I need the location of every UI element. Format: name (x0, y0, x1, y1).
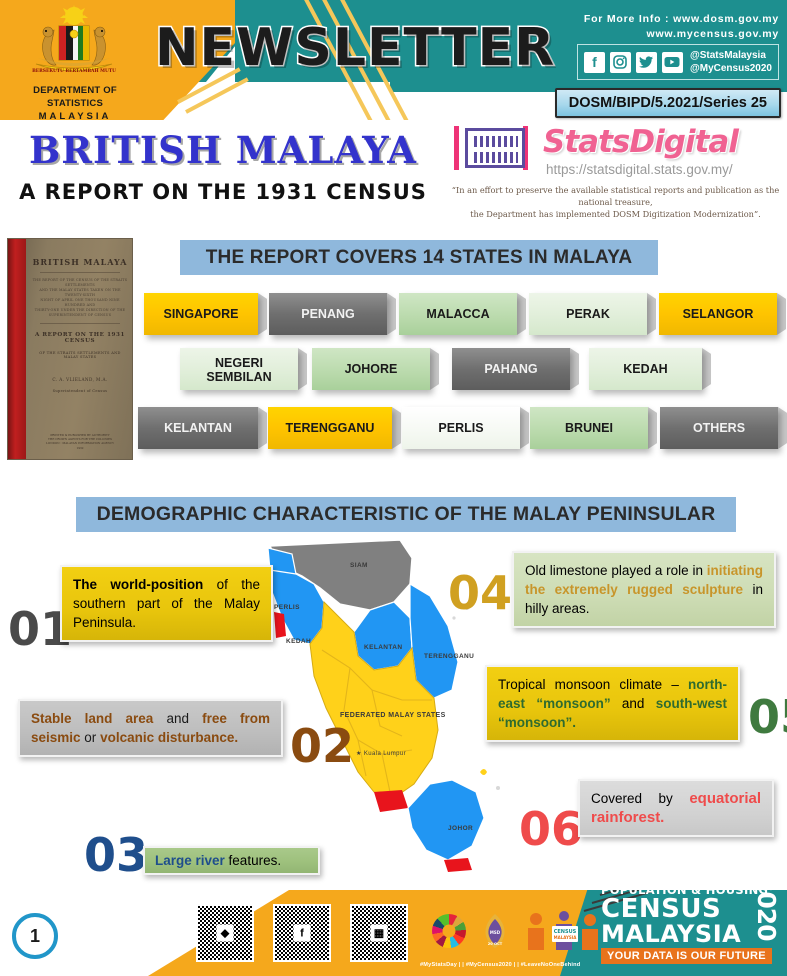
page-subtitle: A REPORT ON THE 1931 CENSUS (18, 180, 428, 204)
handle-statsmalaysia: @StatsMalaysia (690, 49, 772, 62)
statsdigital-logo-icon (454, 126, 528, 170)
state-chip-negeri-sembilan[interactable]: NEGERI SEMBILAN (180, 348, 298, 390)
quote-line-1: “In an effort to preserve the available … (448, 184, 783, 208)
book-spine (8, 239, 26, 459)
callout-02-part-3: or (84, 730, 100, 745)
callout-05-part-0: Tropical monsoon climate – (498, 677, 688, 692)
svg-text:MSD: MSD (490, 930, 501, 935)
book-line3: OF THE STRAITS SETTLEMENTS AND MALAY STA… (32, 351, 128, 359)
callout-05-part-2: and (622, 696, 656, 711)
census-2020-logo: POPULATION & HOUSING CENSUS MALAYSIA YOU… (601, 890, 781, 964)
svg-text:MALAYSIA: MALAYSIA (554, 935, 578, 940)
callout-number-04: 04 (448, 570, 512, 616)
department-name: DEPARTMENT OF STATISTICS MALAYSIA (10, 84, 140, 120)
state-chip-singapore[interactable]: SINGAPORE (144, 293, 258, 335)
state-chip-brunei[interactable]: BRUNEI (530, 407, 648, 449)
newsletter-page: BERSEKUTU BERTAMBAH MUTU DEPARTMENT OF S… (0, 0, 787, 976)
state-chip-malacca[interactable]: MALACCA (399, 293, 517, 335)
callout-02-part-1: and (166, 711, 202, 726)
map-label-kuala-lumpur: ★ Kuala Lumpur (356, 750, 406, 757)
newsletter-title: NEWSLETTER (155, 16, 555, 80)
state-chip-perak[interactable]: PERAK (529, 293, 647, 335)
callout-02-part-0: Stable land area (31, 711, 166, 726)
page-footer: 1 ◆ f ▦ MSD 20 OCT CENSUS MALAYSIA (0, 890, 787, 976)
qr-code-census[interactable]: ▦ (350, 904, 408, 962)
sdg-wheel-icon (432, 914, 466, 948)
dept-line-2: MALAYSIA (10, 110, 140, 120)
callout-01-part-0: The world-position (73, 577, 217, 592)
contact-info: For More Info : www.dosm.gov.my www.myce… (584, 12, 779, 42)
map-region-singapore (444, 858, 472, 872)
book-cover-image: BRITISH MALAYA THE REPORT OF THE CENSUS … (7, 238, 133, 460)
info-url-2: www.mycensus.gov.my (584, 27, 779, 42)
facebook-icon[interactable]: f (584, 52, 605, 73)
state-chip-label-line1: NEGERI (215, 356, 263, 370)
callout-02-part-4: volcanic disturbance. (100, 730, 238, 745)
callout-number-02: 02 (290, 723, 354, 769)
info-url-1: For More Info : www.dosm.gov.my (584, 12, 779, 27)
state-chip-label-line2: SEMBILAN (206, 370, 271, 384)
demographic-banner: DEMOGRAPHIC CHARACTERISTIC OF THE MALAY … (76, 497, 736, 532)
state-chip-others[interactable]: OTHERS (660, 407, 778, 449)
state-chip-kedah[interactable]: KEDAH (589, 348, 702, 390)
svg-text:BERSEKUTU BERTAMBAH MUTU: BERSEKUTU BERTAMBAH MUTU (32, 69, 116, 74)
callout-number-06: 06 (519, 806, 583, 852)
quote-line-2: the Department has implemented DOSM Digi… (448, 208, 783, 220)
series-badge: DOSM/BIPD/5.2021/Series 25 (555, 88, 781, 118)
book-imprint: PRINTED & PUBLISHED BY AUTHORITY THE CRO… (32, 433, 128, 450)
book-subtitle: A REPORT ON THE 1931 CENSUS (32, 332, 128, 344)
states-banner: THE REPORT COVERS 14 STATES IN MALAYA (180, 240, 658, 275)
book-author: C. A. VLIELAND, M.A. (32, 377, 128, 382)
state-chip-perlis[interactable]: PERLIS (402, 407, 520, 449)
map-label-siam: SIAM (350, 562, 368, 569)
page-number-badge: 1 (12, 913, 58, 959)
callout-box-05: Tropical monsoon climate – north-east “m… (485, 665, 740, 742)
map-region-johor (408, 780, 484, 860)
social-media-box: f @StatsMalaysia @MyCensus2020 (577, 44, 779, 80)
callout-04-part-0: Old limestone played a role in (525, 563, 707, 578)
map-label-kelantan: KELANTAN (364, 644, 402, 651)
state-chip-kelantan[interactable]: KELANTAN (138, 407, 258, 449)
state-chip-penang[interactable]: PENANG (269, 293, 387, 335)
qr-code-facebook[interactable]: f (273, 904, 331, 962)
page-title: BRITISH MALAYA (18, 128, 428, 172)
callout-box-01: The world-position of the southern part … (60, 565, 273, 642)
callout-03-part-0: Large river (155, 853, 229, 868)
statsdigital-quote: “In an effort to preserve the available … (448, 184, 783, 220)
footer-hashtags: #MyStatsDay | | #MyCensus2020 | | #Leave… (420, 962, 580, 968)
map-region-malacca (374, 790, 408, 812)
callout-box-04: Old limestone played a role in initiatin… (512, 551, 776, 628)
callout-box-06: Covered by equatorial rainforest. (578, 779, 774, 837)
book-title: BRITISH MALAYA (32, 257, 128, 267)
callout-06-part-0: Covered by (591, 791, 689, 806)
instagram-icon[interactable] (610, 52, 631, 73)
state-chip-pahang[interactable]: PAHANG (452, 348, 570, 390)
book-author-sub: Superintendent of Census (32, 389, 128, 393)
census-family-icon: CENSUS MALAYSIA (524, 908, 604, 956)
map-label-fms: FEDERATED MALAY STATES (340, 712, 446, 719)
state-chip-terengganu[interactable]: TERENGGANU (268, 407, 392, 449)
map-label-perlis: PERLIS (274, 604, 300, 611)
state-chip-selangor[interactable]: SELANGOR (659, 293, 777, 335)
map-label-terengganu: TERENGGANU (424, 653, 474, 660)
census-tagline: YOUR DATA IS OUR FUTURE (601, 948, 772, 964)
book-blurb: THE REPORT OF THE CENSUS OF THE STRAITS … (32, 278, 128, 318)
map-label-johor: JOHOR (448, 825, 473, 832)
social-handles: @StatsMalaysia @MyCensus2020 (690, 49, 772, 75)
callout-number-03: 03 (84, 832, 148, 878)
census-year: 2020 (752, 890, 781, 941)
callout-03-part-1: features. (229, 853, 282, 868)
map-label-kedah: KEDAH (286, 638, 311, 645)
svg-text:20 OCT: 20 OCT (488, 942, 503, 946)
twitter-icon[interactable] (636, 52, 657, 73)
book-cover-text: BRITISH MALAYA THE REPORT OF THE CENSUS … (32, 257, 128, 450)
handle-mycensus: @MyCensus2020 (690, 62, 772, 75)
callout-box-03: Large river features. (143, 846, 320, 875)
qr-badge-census-icon: ▦ (371, 925, 388, 942)
youtube-icon[interactable] (662, 52, 683, 73)
statsdigital-url[interactable]: https://statsdigital.stats.gov.my/ (546, 162, 733, 177)
statsdigital-name: StatsDigital (543, 124, 738, 160)
dept-line-1: DEPARTMENT OF STATISTICS (10, 84, 140, 110)
mystatsday-logo-icon: MSD 20 OCT (478, 912, 512, 950)
state-chip-johore[interactable]: JOHORE (312, 348, 430, 390)
malaysia-coat-of-arms-icon: BERSEKUTU BERTAMBAH MUTU (14, 4, 134, 82)
qr-code-dosm[interactable]: ◆ (196, 904, 254, 962)
qr-badge-facebook-icon: f (294, 925, 311, 942)
callout-box-02: Stable land area and free from seismic o… (18, 699, 283, 757)
callout-number-05: 05 (748, 694, 787, 740)
qr-badge-emblem: ◆ (217, 925, 234, 942)
